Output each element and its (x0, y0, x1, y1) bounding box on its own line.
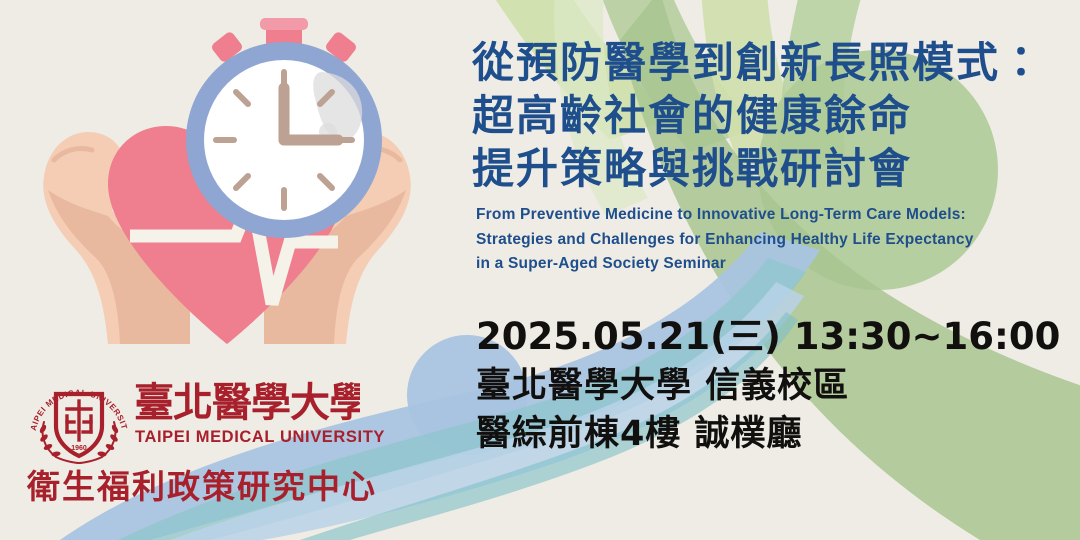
event-datetime: 2025.05.21(三) 13:30~16:00 (476, 312, 1056, 362)
logo-name-cn-wrapper: 臺北醫學大學 (134, 372, 360, 430)
seminar-poster: 從預防醫學到創新長照模式： 超高齡社會的健康餘命 提升策略與挑戰研討會 From… (0, 0, 1080, 540)
title-line-2: 超高齡社會的健康餘命 (472, 89, 1064, 142)
text-column: 從預防醫學到創新長照模式： 超高齡社會的健康餘命 提升策略與挑戰研討會 From… (468, 0, 1068, 540)
event-venue-line-1: 臺北醫學大學 信義校區 (476, 362, 1056, 410)
poster-title: 從預防醫學到創新長照模式： 超高齡社會的健康餘命 提升策略與挑戰研討會 (472, 36, 1064, 195)
logo-name-cn: 臺北醫學大學 (134, 379, 360, 426)
tmu-crest-icon: TAIPEI MEDICAL UNIVERSITY (26, 368, 132, 464)
subtitle-line-2: Strategies and Challenges for Enhancing … (476, 228, 1056, 253)
stopwatch-icon (186, 18, 382, 238)
health-illustration (12, 14, 442, 354)
subtitle-line-3: in a Super-Aged Society Seminar (476, 252, 1056, 277)
logo-center-name: 衛生福利政策研究中心 (27, 460, 377, 508)
title-line-1: 從預防醫學到創新長照模式： (472, 36, 1064, 89)
poster-subtitle: From Preventive Medicine to Innovative L… (476, 203, 1056, 277)
logo-name-en: TAIPEI MEDICAL UNIVERSITY (135, 428, 385, 447)
event-venue-line-2: 醫綜前棟4樓 誠樸廳 (476, 410, 1056, 458)
subtitle-line-1: From Preventive Medicine to Innovative L… (476, 203, 1056, 228)
logo-wordmark: 臺北醫學大學 TAIPEI MEDICAL UNIVERSITY (134, 372, 360, 464)
event-details: 2025.05.21(三) 13:30~16:00 臺北醫學大學 信義校區 醫綜… (476, 312, 1056, 458)
logo-name-cn-svg: 臺北醫學大學 (134, 372, 360, 430)
university-logo: TAIPEI MEDICAL UNIVERSITY (26, 368, 366, 498)
title-line-3: 提升策略與挑戰研討會 (472, 142, 1064, 195)
crest-year: 1960 (71, 445, 87, 452)
